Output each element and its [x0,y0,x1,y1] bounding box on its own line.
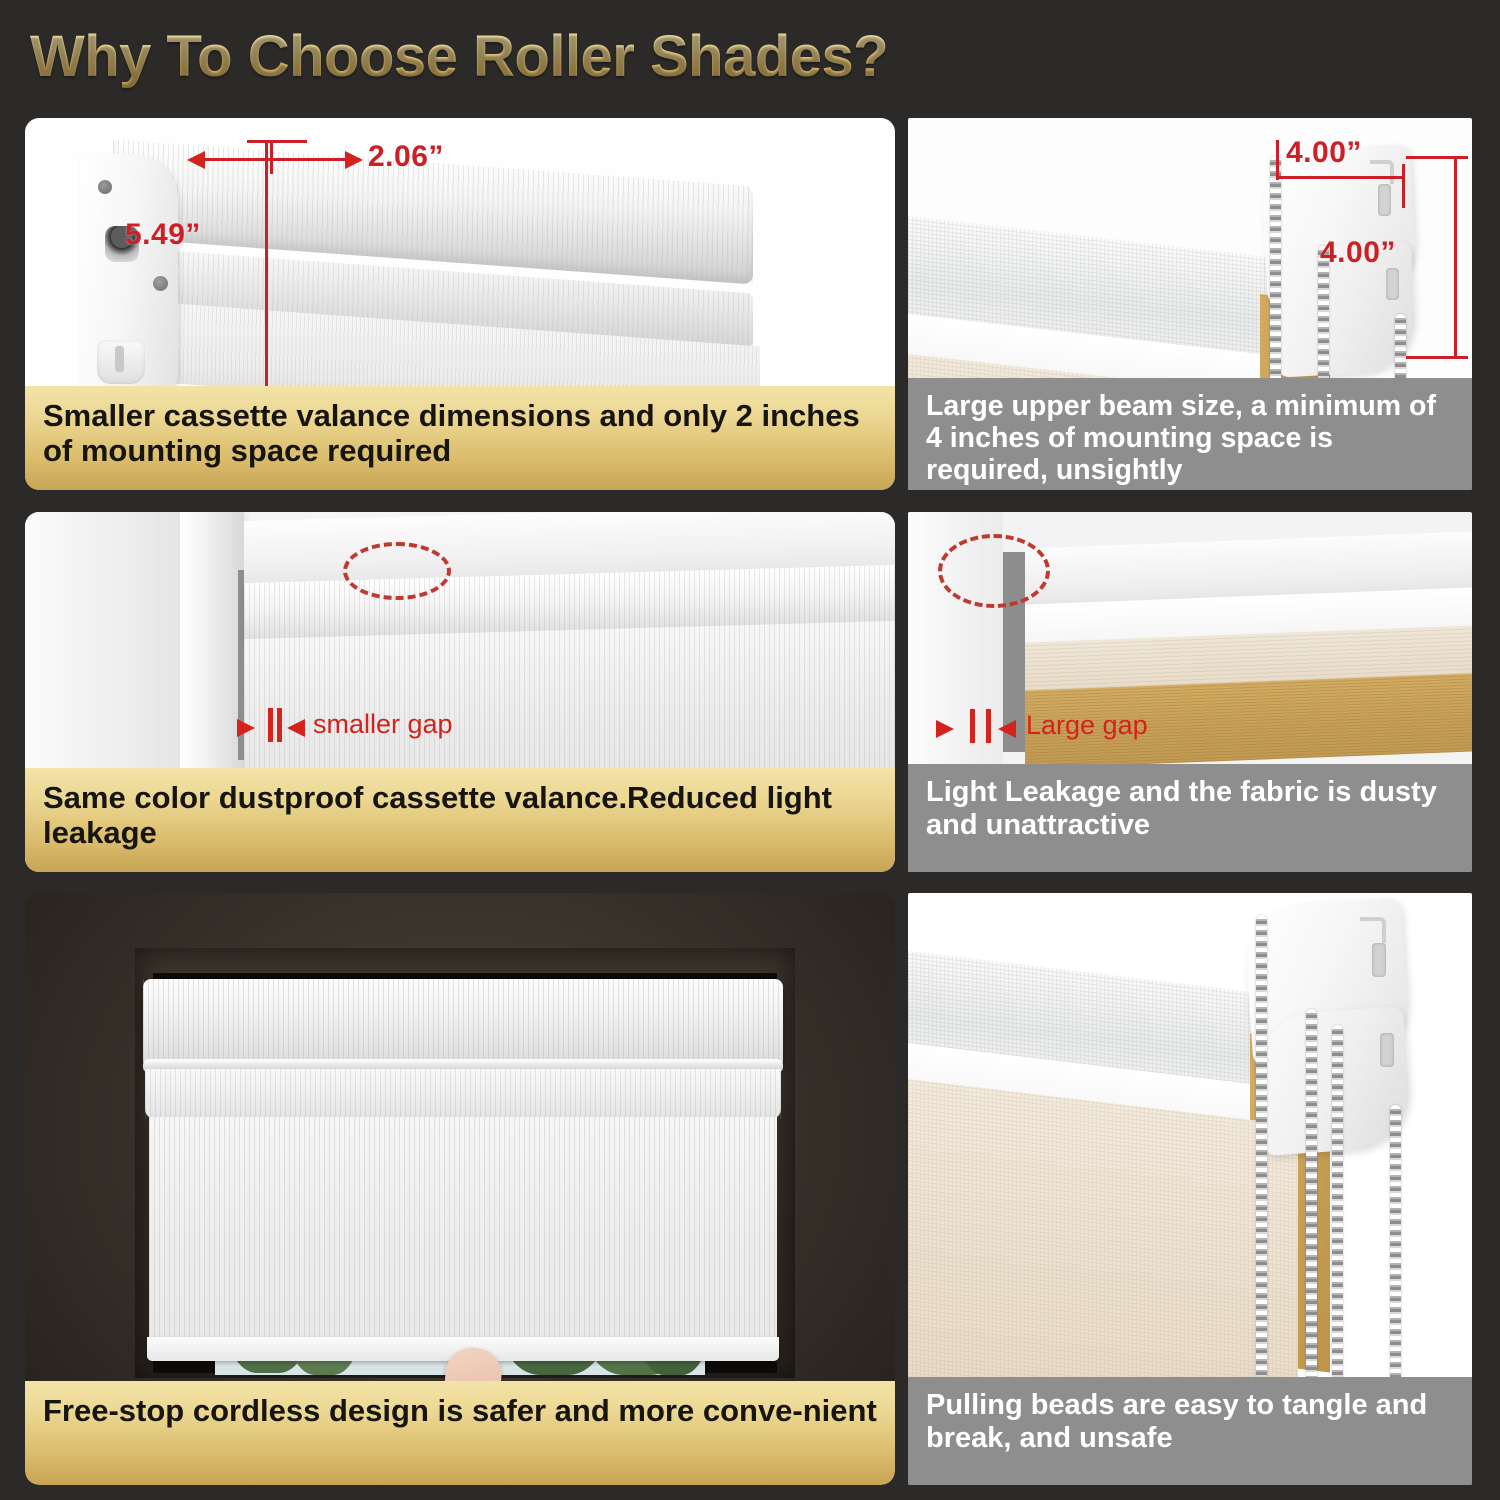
annotation-height-4-00: 4.00” [1320,236,1396,270]
caption-con-pulling-beads: Pulling beads are easy to tangle and bre… [908,1377,1472,1485]
caption-pro-cassette-size: Smaller cassette valance dimensions and … [25,386,895,490]
panel-con-pulling-beads: Pulling beads are easy to tangle and bre… [908,893,1472,1485]
highlight-ellipse-smaller-gap [343,542,451,600]
annotation-smaller-gap: smaller gap [313,709,453,740]
panel-pro-cordless-design: Free-stop cordless design is safer and m… [25,893,895,1485]
caption-con-beam-size: Large upper beam size, a minimum of 4 in… [908,378,1472,490]
highlight-ellipse-large-gap [938,534,1050,608]
panel-con-light-leakage: Large gap Light Leakage and the fabric i… [908,512,1472,872]
comparison-grid: 2.06” 5.49” Smaller cassette valance dim… [0,0,1500,1500]
caption-pro-cordless-design: Free-stop cordless design is safer and m… [25,1381,895,1485]
annotation-width-2-06: 2.06” [368,140,444,174]
panel-pro-dustproof-valance: smaller gap Same color dustproof cassett… [25,512,895,872]
panel-con-beam-size: 4.00” 4.00” Large upper beam size, a min… [908,118,1472,490]
annotation-height-5-49: 5.49” [125,218,201,252]
annotation-width-4-00: 4.00” [1286,136,1362,170]
panel-pro-cassette-size: 2.06” 5.49” Smaller cassette valance dim… [25,118,895,490]
caption-pro-dustproof-valance: Same color dustproof cassette valance.Re… [25,768,895,872]
caption-con-light-leakage: Light Leakage and the fabric is dusty an… [908,764,1472,872]
annotation-large-gap: Large gap [1026,710,1148,741]
